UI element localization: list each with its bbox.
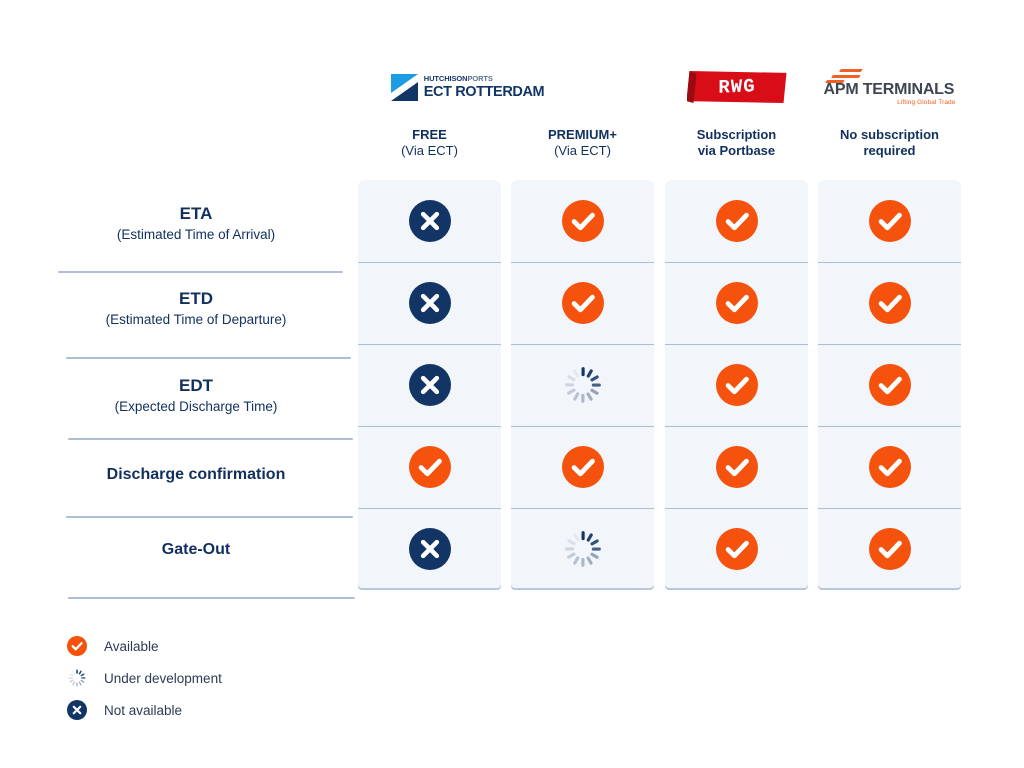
status-cell bbox=[818, 262, 961, 344]
row-label-5: Gate-Out bbox=[46, 540, 346, 560]
status-cell bbox=[511, 180, 654, 262]
available-icon bbox=[716, 364, 758, 406]
column-header-portbase: Subscription via Portbase bbox=[665, 127, 808, 159]
under-development-icon bbox=[67, 668, 87, 688]
logo-slot-portbase: RWG bbox=[665, 62, 808, 112]
status-cell bbox=[665, 508, 808, 590]
legend-item: Under development bbox=[64, 662, 222, 694]
column-header-line2: (Via ECT) bbox=[511, 143, 654, 159]
ect-logo-ports: PORTS bbox=[467, 74, 492, 83]
ect-mark-icon bbox=[391, 74, 418, 101]
row-label-3: EDT(Expected Discharge Time) bbox=[46, 375, 346, 415]
column-header-line1: No subscription bbox=[818, 127, 961, 143]
available-icon bbox=[869, 282, 911, 324]
available-icon bbox=[869, 200, 911, 242]
status-cell bbox=[818, 508, 961, 590]
ect-logo-hutchison: HUTCHISON bbox=[424, 74, 468, 83]
status-cell bbox=[818, 180, 961, 262]
row-label-description: (Estimated Time of Arrival) bbox=[46, 226, 346, 243]
status-cell bbox=[358, 508, 501, 590]
status-cell bbox=[665, 262, 808, 344]
available-icon bbox=[67, 636, 87, 656]
status-cell bbox=[818, 426, 961, 508]
available-icon bbox=[716, 446, 758, 488]
row-label-title: Gate-Out bbox=[46, 540, 346, 560]
status-cell bbox=[358, 262, 501, 344]
legend-icon bbox=[64, 668, 90, 688]
available-icon bbox=[409, 446, 451, 488]
row-divider bbox=[68, 438, 353, 440]
available-icon bbox=[869, 528, 911, 570]
column-header-line2: required bbox=[818, 143, 961, 159]
under-development-icon bbox=[562, 528, 604, 570]
row-divider bbox=[66, 357, 351, 359]
comparison-table: HUTCHISONPORTS ECT ROTTERDAM RWG APM TER… bbox=[0, 0, 1024, 768]
legend: AvailableUnder developmentNot available bbox=[64, 630, 222, 726]
not-available-icon bbox=[409, 282, 451, 324]
legend-icon bbox=[64, 636, 90, 656]
not-available-icon bbox=[409, 528, 451, 570]
available-icon bbox=[562, 282, 604, 324]
legend-label: Available bbox=[104, 639, 159, 654]
status-cell bbox=[511, 508, 654, 590]
not-available-icon bbox=[67, 700, 87, 720]
column-header-line1: Subscription bbox=[665, 127, 808, 143]
status-cell bbox=[358, 180, 501, 262]
logo-slot-free: HUTCHISONPORTS ECT ROTTERDAM bbox=[358, 62, 501, 112]
available-icon bbox=[869, 364, 911, 406]
available-icon bbox=[716, 200, 758, 242]
legend-icon bbox=[64, 700, 90, 720]
logo-slot-no-subscription: APM TERMINALS Lifting Global Trade bbox=[818, 62, 961, 112]
row-label-description: (Expected Discharge Time) bbox=[46, 398, 346, 415]
row-divider bbox=[66, 516, 353, 518]
legend-item: Not available bbox=[64, 694, 222, 726]
column-header-free: FREE (Via ECT) bbox=[358, 127, 501, 159]
row-divider bbox=[58, 271, 343, 273]
status-cell bbox=[511, 426, 654, 508]
available-icon bbox=[716, 282, 758, 324]
under-development-icon bbox=[562, 364, 604, 406]
available-icon bbox=[562, 200, 604, 242]
available-icon bbox=[562, 446, 604, 488]
status-cell bbox=[665, 344, 808, 426]
status-cell bbox=[665, 180, 808, 262]
column-header-line1: PREMIUM+ bbox=[511, 127, 654, 143]
column-header-no-subscription: No subscription required bbox=[818, 127, 961, 159]
apm-terminals-logo: APM TERMINALS Lifting Global Trade bbox=[824, 69, 956, 105]
row-label-description: (Estimated Time of Departure) bbox=[46, 311, 346, 328]
row-divider bbox=[68, 597, 355, 599]
legend-label: Under development bbox=[104, 671, 222, 686]
status-cell bbox=[511, 344, 654, 426]
row-label-title: Discharge confirmation bbox=[46, 465, 346, 485]
row-label-acronym: ETD bbox=[46, 288, 346, 310]
not-available-icon bbox=[409, 364, 451, 406]
status-cell bbox=[511, 262, 654, 344]
row-label-acronym: ETA bbox=[46, 203, 346, 225]
rwg-logo: RWG bbox=[687, 68, 787, 106]
logo-slot-premium bbox=[511, 62, 654, 112]
column-header-premium: PREMIUM+ (Via ECT) bbox=[511, 127, 654, 159]
status-cell bbox=[358, 344, 501, 426]
column-header-line2: (Via ECT) bbox=[358, 143, 501, 159]
row-label-2: ETD(Estimated Time of Departure) bbox=[46, 288, 346, 328]
legend-item: Available bbox=[64, 630, 222, 662]
rwg-logo-name: RWG bbox=[687, 69, 787, 105]
row-label-acronym: EDT bbox=[46, 375, 346, 397]
not-available-icon bbox=[409, 200, 451, 242]
available-icon bbox=[716, 528, 758, 570]
status-cell bbox=[665, 426, 808, 508]
available-icon bbox=[869, 446, 911, 488]
logo-row: HUTCHISONPORTS ECT ROTTERDAM RWG APM TER… bbox=[0, 0, 1024, 120]
row-label-4: Discharge confirmation bbox=[46, 465, 346, 485]
row-label-1: ETA(Estimated Time of Arrival) bbox=[46, 203, 346, 243]
apm-logo-name: APM TERMINALS bbox=[824, 81, 955, 99]
status-cell bbox=[358, 426, 501, 508]
legend-label: Not available bbox=[104, 703, 182, 718]
apm-logo-tagline: Lifting Global Trade bbox=[897, 99, 955, 106]
column-header-line2: via Portbase bbox=[665, 143, 808, 159]
status-cell bbox=[818, 344, 961, 426]
column-header-line1: FREE bbox=[358, 127, 501, 143]
